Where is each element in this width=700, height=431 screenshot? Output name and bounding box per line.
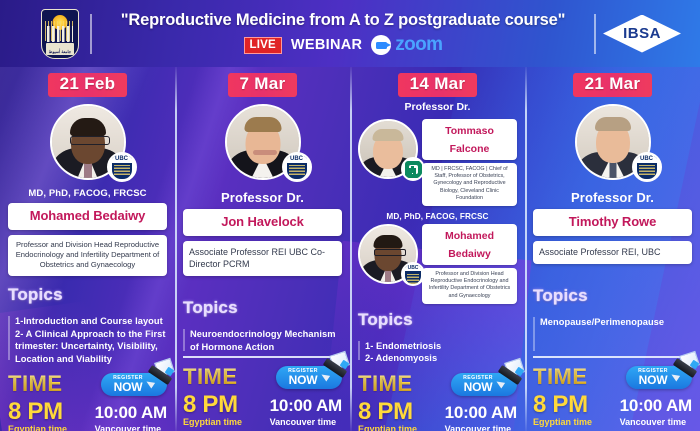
topics-heading: Topics — [358, 310, 517, 330]
university-logo-label: جامعة أسيوط — [42, 49, 78, 54]
assiut-university-logo: جامعة أسيوط — [30, 9, 90, 59]
register-now-button[interactable]: REGISTER NOW — [276, 366, 342, 389]
speaker-affiliation-card: Professor and Division Head Reproductive… — [8, 235, 167, 276]
register-now-label: NOW — [464, 381, 493, 393]
time-block: TIME REGISTER NOW 8 PM Egyptian time — [8, 371, 167, 431]
speaker-name: Mohamed Bedaiwy — [30, 208, 146, 223]
speaker-affiliation: Associate Professor REI UBC Co-Director … — [189, 246, 336, 270]
topic-item: 2- A Clinical Approach to the First trim… — [15, 328, 167, 366]
secondary-time-value: 10:00 AM — [620, 395, 692, 417]
topic-item: 2- Adenomyosis — [365, 352, 517, 365]
primary-time-value: 8 PM — [358, 400, 417, 424]
poster-header: جامعة أسيوط "Reproductive Medicine from … — [0, 0, 700, 67]
secondary-time: 10:00 AM Vancouver time — [270, 395, 342, 427]
speaker-affiliation-card: MD | FRCSC, FACOG | Chief of Staff, Prof… — [422, 163, 517, 206]
time-block: TIME REGISTER NOW 8 PM Egyptian time — [183, 364, 342, 431]
primary-time: 8 PM Egyptian time — [8, 400, 67, 431]
speaker-name: Jon Havelock — [221, 214, 304, 229]
speaker-entry: Tommaso Falcone MD | FRCSC, FACOG | Chie… — [358, 119, 517, 206]
time-label: TIME — [533, 364, 588, 390]
ibsa-logo-label: IBSA — [623, 25, 661, 42]
topics-heading: Topics — [533, 286, 692, 306]
primary-time: 8 PM Egyptian time — [183, 393, 242, 427]
secondary-time-value: 10:00 AM — [270, 395, 342, 417]
register-now-button[interactable]: REGISTER NOW — [451, 373, 517, 396]
secondary-time-zone: Vancouver time — [620, 417, 692, 427]
register-now-button[interactable]: REGISTER NOW — [626, 366, 692, 389]
live-badge: LIVE — [244, 37, 282, 54]
ubc-logo: UBC — [632, 152, 662, 182]
topic-item: 1-Introduction and Course layout — [15, 315, 167, 328]
speaker-affiliation: MD | FRCSC, FACOG | Chief of Staff, Prof… — [426, 166, 513, 202]
secondary-time: 10:00 AM Vancouver time — [95, 402, 167, 431]
topics-list: 1- Endometriosis 2- Adenomyosis — [358, 340, 517, 365]
session-column-4: 21 Mar UBC — [525, 67, 700, 431]
session-date-badge: 14 Mar — [398, 73, 478, 97]
topics-list: Neuroendocrinology Mechanism of Hormone … — [183, 328, 342, 356]
session-column-1: 21 Feb — [0, 67, 175, 431]
register-now-label: NOW — [114, 381, 143, 393]
primary-time: 8 PM Egyptian time — [358, 400, 417, 431]
primary-time-zone: Egyptian time — [183, 417, 242, 427]
session-column-3: 14 Mar Professor Dr. — [350, 67, 525, 431]
speaker-photo-wrapper: UBC — [50, 104, 126, 180]
time-block: TIME REGISTER NOW 8 PM Egyptian time — [358, 371, 517, 431]
session-date-badge: 21 Feb — [48, 73, 128, 97]
primary-time-zone: Egyptian time — [358, 424, 417, 431]
pillars-icon — [47, 26, 73, 42]
speaker-name: Timothy Rowe — [569, 214, 656, 229]
ubc-logo: UBC — [401, 262, 425, 286]
speaker-affiliation-card: Associate Professor REI UBC Co-Director … — [183, 241, 342, 276]
register-now-label: NOW — [289, 374, 318, 386]
topics-heading: Topics — [8, 285, 167, 305]
topic-item: Neuroendocrinology Mechanism of Hormone … — [190, 328, 342, 353]
speaker-credentials: MD, PhD, FACOG, FRCSC — [28, 188, 146, 199]
primary-time: 8 PM Egyptian time — [533, 393, 592, 427]
primary-time-value: 8 PM — [8, 400, 67, 424]
speaker-name-card: Mohamed Bedaiwy — [8, 203, 167, 230]
speaker-name-card: Tommaso Falcone — [422, 119, 517, 160]
session-column-2: 7 Mar UBC — [175, 67, 350, 431]
topic-item: 1- Endometriosis — [365, 340, 517, 353]
register-now-button[interactable]: REGISTER NOW — [101, 373, 167, 396]
session-date-badge: 21 Mar — [573, 73, 653, 97]
register-now-label: NOW — [639, 374, 668, 386]
video-camera-icon — [371, 35, 391, 55]
speaker-affiliation: Associate Professor REI, UBC — [539, 246, 686, 258]
time-label: TIME — [8, 371, 63, 397]
secondary-time-value: 10:00 AM — [445, 402, 517, 424]
time-label: TIME — [183, 364, 238, 390]
primary-time-zone: Egyptian time — [8, 424, 67, 431]
webinar-label: WEBINAR — [291, 37, 362, 53]
session-date-badge: 7 Mar — [228, 73, 298, 97]
speaker-credentials: Professor Dr. — [221, 190, 304, 205]
topics-list: Menopause/Perimenopause — [533, 316, 692, 356]
topic-item: Menopause/Perimenopause — [540, 316, 692, 329]
speaker-photo-wrapper — [358, 119, 418, 179]
secondary-time-zone: Vancouver time — [95, 424, 167, 431]
section-divider — [183, 356, 342, 358]
pen-icon — [671, 353, 700, 387]
ibsa-logo: IBSA — [596, 15, 688, 53]
zoom-wordmark: zoom — [395, 34, 442, 56]
pen-icon — [146, 360, 176, 394]
speaker-name: Mohamed Bedaiwy — [445, 230, 494, 260]
speaker-name-card: Mohamed Bedaiwy — [422, 224, 517, 265]
speaker-affiliation-card: Associate Professor REI, UBC — [533, 241, 692, 264]
secondary-time: 10:00 AM Vancouver time — [620, 395, 692, 427]
primary-time-zone: Egyptian time — [533, 417, 592, 427]
speaker-photo-wrapper: UBC — [358, 224, 418, 284]
zoom-logo: zoom — [371, 34, 442, 56]
speaker-credentials: Professor Dr. — [358, 101, 517, 113]
webinar-poster: جامعة أسيوط "Reproductive Medicine from … — [0, 0, 700, 431]
speaker-credentials: MD, PhD, FACOG, FRCSC — [358, 212, 517, 221]
time-block: TIME REGISTER NOW 8 PM Egyptian time — [533, 364, 692, 431]
speaker-affiliation: Professor and Division Head Reproductive… — [14, 240, 161, 270]
speaker-name-card: Jon Havelock — [183, 209, 342, 236]
speaker-affiliation: Professor and Division Head Reproductive… — [426, 271, 513, 300]
speaker-photo-wrapper: UBC — [575, 104, 651, 180]
speaker-affiliation-card: Professor and Division Head Reproductive… — [422, 268, 517, 304]
time-label: TIME — [358, 371, 413, 397]
pen-icon — [496, 360, 526, 394]
pen-icon — [321, 353, 351, 387]
section-divider — [533, 356, 692, 358]
cleveland-clinic-logo — [401, 157, 425, 181]
secondary-time-zone: Vancouver time — [270, 417, 342, 427]
secondary-time: 10:00 AM Vancouver time — [445, 402, 517, 431]
secondary-time-value: 10:00 AM — [95, 402, 167, 424]
ubc-logo: UBC — [107, 152, 137, 182]
secondary-time-zone: Vancouver time — [445, 424, 517, 431]
topics-heading: Topics — [183, 298, 342, 318]
ubc-logo: UBC — [282, 152, 312, 182]
speaker-entry: UBC Mohamed Bedaiwy Professor and Divisi… — [358, 224, 517, 304]
primary-time-value: 8 PM — [533, 393, 592, 417]
topics-list: 1-Introduction and Course layout 2- A Cl… — [8, 315, 167, 365]
speaker-credentials: Professor Dr. — [571, 190, 654, 205]
speaker-photo-wrapper: UBC — [225, 104, 301, 180]
speaker-name: Tommaso Falcone — [445, 125, 494, 155]
primary-time-value: 8 PM — [183, 393, 242, 417]
speaker-name-card: Timothy Rowe — [533, 209, 692, 236]
page-title: "Reproductive Medicine from A to Z postg… — [121, 11, 565, 30]
session-columns: 21 Feb — [0, 67, 700, 431]
